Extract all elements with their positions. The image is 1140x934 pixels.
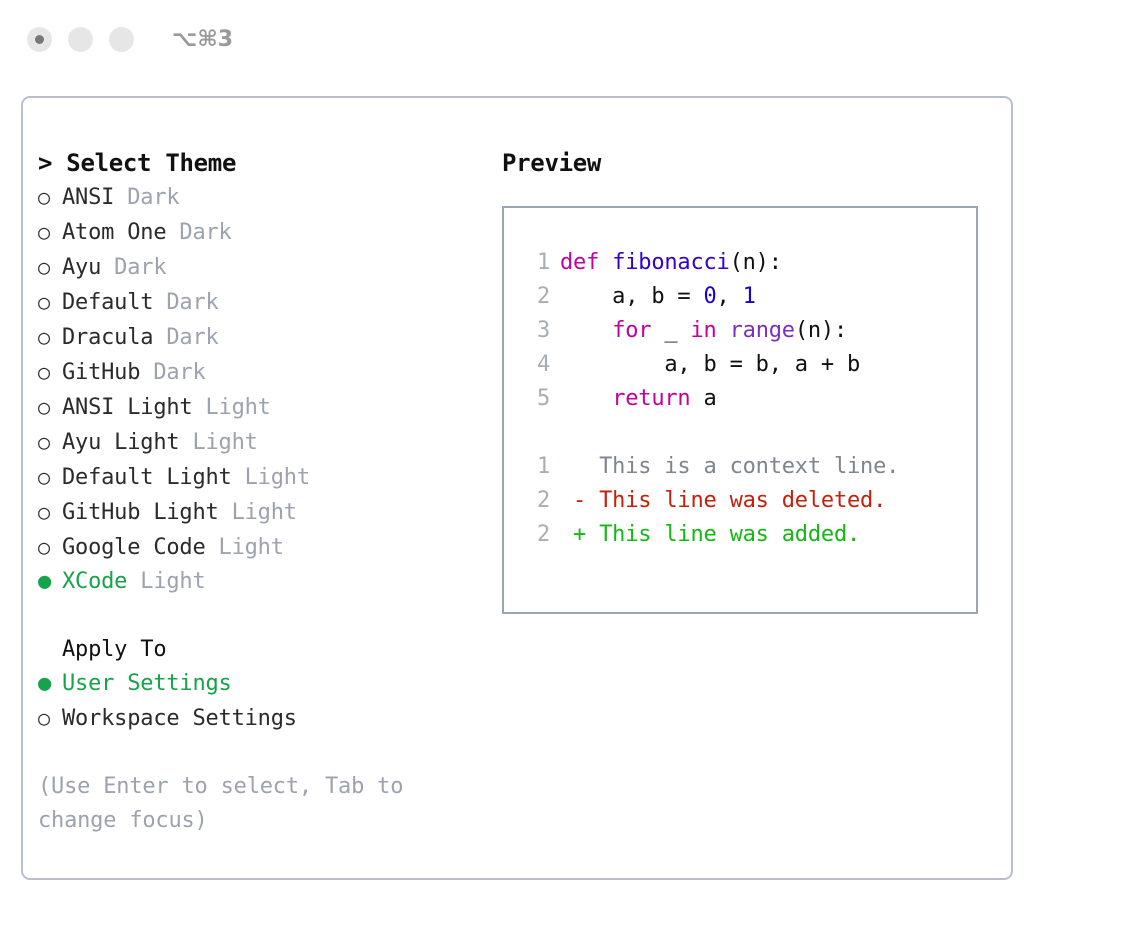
radio-unselected-icon: ○ (38, 180, 62, 214)
code-line: 3 for _ in range(n): (522, 314, 976, 348)
select-theme-heading: > Select Theme (38, 146, 488, 180)
theme-option-label: XCode (62, 569, 127, 594)
theme-option-kind: Dark (166, 220, 231, 245)
title-bar: ⌥⌘3 (0, 0, 1140, 78)
diff-line-text: - This line was deleted. (560, 488, 886, 513)
apply-to-option-user-settings[interactable]: ●User Settings (38, 667, 488, 701)
window-dot-third[interactable] (109, 27, 134, 52)
theme-selector-column: > Select Theme ○ANSI Dark○Atom One Dark○… (38, 146, 488, 838)
theme-option-label: Dracula (62, 325, 153, 350)
main-panel: > Select Theme ○ANSI Dark○Atom One Dark○… (21, 96, 1013, 880)
theme-option-google-code[interactable]: ○Google Code Light (38, 530, 488, 565)
code-token-plain (560, 318, 612, 343)
theme-option-kind: Light (179, 430, 257, 455)
radio-unselected-icon: ○ (38, 460, 62, 494)
theme-option-default-light[interactable]: ○Default Light Light (38, 460, 488, 495)
code-sample: 1def fibonacci(n):2 a, b = 0, 13 for _ i… (522, 246, 976, 416)
code-line: 2 a, b = 0, 1 (522, 280, 976, 314)
code-token-plain (560, 386, 612, 411)
theme-option-kind: Light (232, 465, 310, 490)
code-token-plain: (n): (795, 318, 847, 343)
diff-line-number: 2 (522, 484, 550, 518)
radio-unselected-icon: ○ (38, 320, 62, 354)
apply-to-heading: Apply To (38, 633, 488, 667)
window-controls (27, 27, 134, 52)
code-token-kw: return (612, 386, 690, 411)
radio-unselected-icon: ○ (38, 701, 62, 735)
diff-line-text: This is a context line. (560, 454, 899, 479)
code-token-plain: a (690, 386, 716, 411)
radio-unselected-icon: ○ (38, 495, 62, 529)
apply-to-option-workspace-settings[interactable]: ○Workspace Settings (38, 701, 488, 736)
diff-line-text: + This line was added. (560, 522, 860, 547)
theme-option-label: Ayu Light (62, 430, 179, 455)
code-line: 1def fibonacci(n): (522, 246, 976, 280)
window-dot-active[interactable] (27, 27, 52, 52)
theme-option-kind: Light (192, 395, 270, 420)
code-line-number: 1 (522, 246, 550, 280)
diff-line-add: 2 + This line was added. (522, 518, 976, 552)
code-token-kw: for (612, 318, 651, 343)
theme-list: ○ANSI Dark○Atom One Dark○Ayu Dark○Defaul… (38, 180, 488, 599)
code-token-kw: def (560, 250, 612, 275)
diff-sample: 1 This is a context line.2 - This line w… (522, 450, 976, 552)
theme-option-ayu-light[interactable]: ○Ayu Light Light (38, 425, 488, 460)
code-line-number: 5 (522, 382, 550, 416)
theme-option-github-light[interactable]: ○GitHub Light Light (38, 495, 488, 530)
code-line: 5 return a (522, 382, 976, 416)
active-dot-icon (35, 35, 44, 44)
keyboard-shortcut-label: ⌥⌘3 (172, 27, 233, 52)
theme-option-label: ANSI Light (62, 395, 192, 420)
apply-to-option-label: Workspace Settings (62, 706, 297, 731)
theme-option-kind: Dark (153, 325, 218, 350)
code-token-plain: _ (651, 318, 690, 343)
keyboard-hint-text: (Use Enter to select, Tab to change focu… (38, 770, 458, 838)
theme-option-label: GitHub (62, 360, 140, 385)
diff-line-number: 1 (522, 450, 550, 484)
code-token-num: 0 (704, 284, 717, 309)
code-token-plain: a, b = (560, 284, 704, 309)
code-token-plain: (n): (730, 250, 782, 275)
radio-unselected-icon: ○ (38, 285, 62, 319)
theme-option-kind: Dark (101, 255, 166, 280)
theme-option-kind: Dark (140, 360, 205, 385)
radio-unselected-icon: ○ (38, 215, 62, 249)
theme-option-ansi[interactable]: ○ANSI Dark (38, 180, 488, 215)
app-window: ⌥⌘3 > Select Theme ○ANSI Dark○Atom One D… (0, 0, 1140, 934)
diff-line-ctx: 1 This is a context line. (522, 450, 976, 484)
radio-selected-icon: ● (38, 565, 62, 599)
theme-option-label: GitHub Light (62, 500, 219, 525)
apply-to-list: ●User Settings○Workspace Settings (38, 667, 488, 736)
theme-option-github[interactable]: ○GitHub Dark (38, 355, 488, 390)
radio-unselected-icon: ○ (38, 425, 62, 459)
apply-to-section: Apply To ●User Settings○Workspace Settin… (38, 633, 488, 736)
code-token-fn: fibonacci (612, 250, 729, 275)
code-token-kw: in (690, 318, 716, 343)
preview-box: 1def fibonacci(n):2 a, b = 0, 13 for _ i… (502, 206, 978, 614)
code-token-num: 1 (743, 284, 756, 309)
code-token-plain: , (717, 284, 743, 309)
theme-option-kind: Light (127, 569, 205, 594)
diff-line-number: 2 (522, 518, 550, 552)
code-line-number: 2 (522, 280, 550, 314)
theme-option-ansi-light[interactable]: ○ANSI Light Light (38, 390, 488, 425)
theme-option-kind: Dark (114, 185, 179, 210)
radio-unselected-icon: ○ (38, 355, 62, 389)
theme-option-label: Default (62, 290, 153, 315)
code-line-number: 4 (522, 348, 550, 382)
code-line-number: 3 (522, 314, 550, 348)
code-token-call: range (730, 318, 795, 343)
theme-option-atom-one[interactable]: ○Atom One Dark (38, 215, 488, 250)
theme-option-kind: Light (219, 500, 297, 525)
radio-unselected-icon: ○ (38, 530, 62, 564)
preview-heading: Preview (502, 146, 1002, 180)
radio-unselected-icon: ○ (38, 250, 62, 284)
preview-spacer (522, 416, 976, 450)
theme-option-dracula[interactable]: ○Dracula Dark (38, 320, 488, 355)
theme-option-kind: Dark (153, 290, 218, 315)
theme-option-label: Default Light (62, 465, 232, 490)
diff-line-del: 2 - This line was deleted. (522, 484, 976, 518)
preview-column: Preview 1def fibonacci(n):2 a, b = 0, 13… (502, 146, 1002, 614)
apply-to-option-label: User Settings (62, 671, 232, 696)
theme-option-label: Google Code (62, 535, 206, 560)
theme-option-ayu[interactable]: ○Ayu Dark (38, 250, 488, 285)
window-dot-second[interactable] (68, 27, 93, 52)
radio-selected-icon: ● (38, 667, 62, 701)
theme-option-xcode[interactable]: ●XCode Light (38, 565, 488, 599)
radio-unselected-icon: ○ (38, 390, 62, 424)
code-token-plain (717, 318, 730, 343)
theme-option-label: Atom One (62, 220, 166, 245)
theme-option-default[interactable]: ○Default Dark (38, 285, 488, 320)
code-line: 4 a, b = b, a + b (522, 348, 976, 382)
theme-option-label: Ayu (62, 255, 101, 280)
theme-option-kind: Light (206, 535, 284, 560)
theme-option-label: ANSI (62, 185, 114, 210)
code-token-plain: a, b = b, a + b (560, 352, 860, 377)
